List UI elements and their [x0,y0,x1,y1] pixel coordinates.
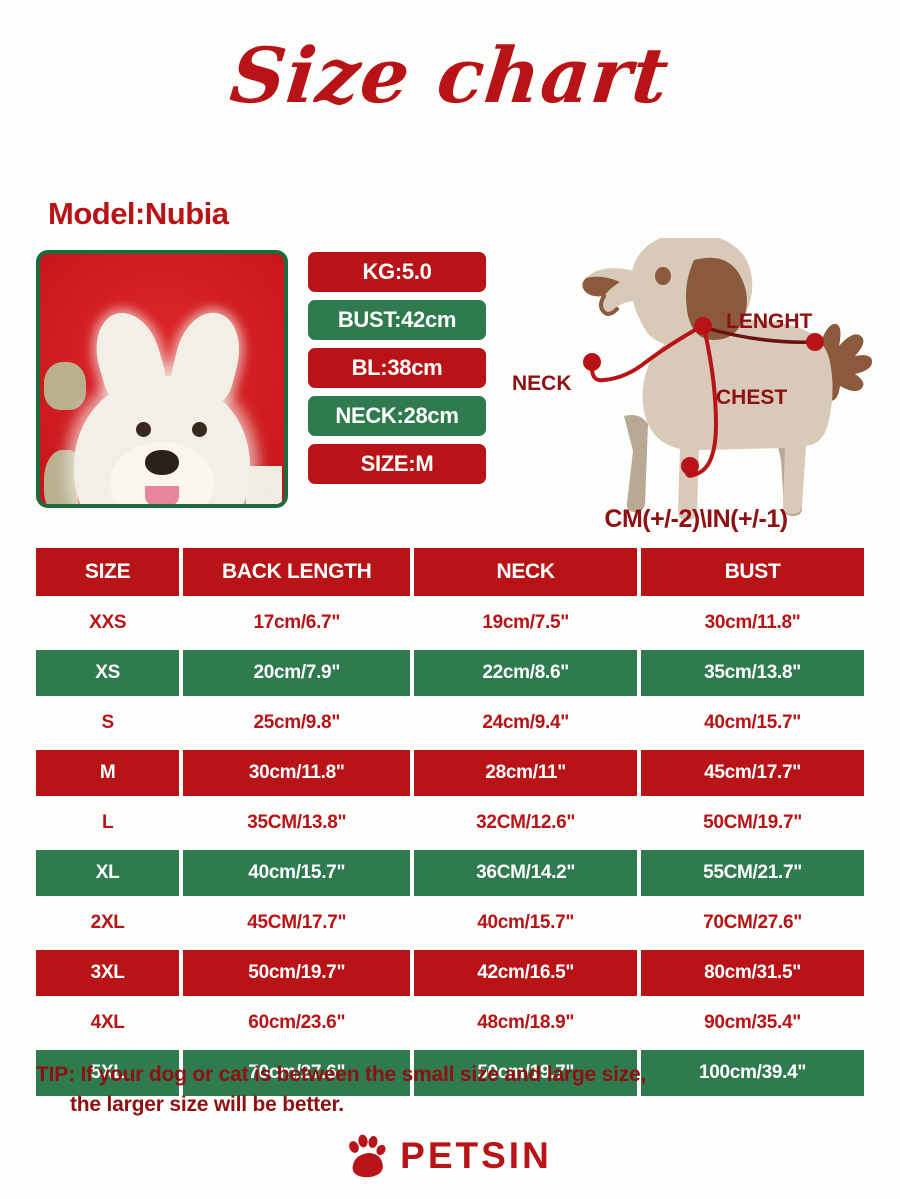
length-measure-dot-start [694,317,712,335]
neck-measure-dot [583,353,601,371]
dog-front-leg-far [624,415,648,512]
brand-footer: PETSIN [0,1134,900,1178]
cell-back-length: 60cm/23.6" [183,1000,410,1046]
cell-back-length: 17cm/6.7" [183,600,410,646]
chest-measure-dot [681,457,699,475]
cell-back-length: 45CM/17.7" [183,900,410,946]
table-row: 3XL 50cm/19.7" 42cm/16.5" 80cm/31.5" [36,950,864,996]
title-bar: Size chart [0,0,900,114]
cell-bust: 80cm/31.5" [641,950,864,996]
cell-bust: 90cm/35.4" [641,1000,864,1046]
dog-photo-tongue [145,486,179,508]
cell-bust: 50CM/19.7" [641,800,864,846]
cell-back-length: 50cm/19.7" [183,950,410,996]
cell-bust: 30cm/11.8" [641,600,864,646]
cell-back-length: 30cm/11.8" [183,750,410,796]
dog-body [642,320,832,520]
dog-photo-eye-right [192,422,207,437]
table-header-row: SIZE BACK LENGTH NECK BUST [36,548,864,596]
length-measure-dot-end [806,333,824,351]
cell-back-length: 35CM/13.8" [183,800,410,846]
badge-bust: BUST:42cm [308,300,486,340]
model-photo-inner [40,254,284,504]
dog-measurement-diagram: LENGHT NECK CHEST [498,238,894,538]
badge-size: SIZE:M [308,444,486,484]
cell-bust: 35cm/13.8" [641,650,864,696]
brand-name: PETSIN [400,1135,552,1177]
size-table: SIZE BACK LENGTH NECK BUST XXS 17cm/6.7"… [36,548,864,1100]
table-row: 2XL 45CM/17.7" 40cm/15.7" 70CM/27.6" [36,900,864,946]
diagram-label-neck: NECK [512,372,572,395]
cell-size: XXS [36,600,179,646]
cell-neck: 28cm/11" [414,750,637,796]
table-row: XL 40cm/15.7" 36CM/14.2" 55CM/21.7" [36,850,864,896]
cell-size: 2XL [36,900,179,946]
cell-neck: 40cm/15.7" [414,900,637,946]
cell-back-length: 40cm/15.7" [183,850,410,896]
table-row: XXS 17cm/6.7" 19cm/7.5" 30cm/11.8" [36,600,864,646]
page-title: Size chart [227,38,673,114]
cell-size: 4XL [36,1000,179,1046]
table-row: XS 20cm/7.9" 22cm/8.6" 35cm/13.8" [36,650,864,696]
cell-neck: 22cm/8.6" [414,650,637,696]
cell-size: L [36,800,179,846]
column-header-size: SIZE [36,548,179,596]
cell-bust: 70CM/27.6" [641,900,864,946]
column-header-bust: BUST [641,548,864,596]
cell-neck: 24cm/9.4" [414,700,637,746]
cell-size: M [36,750,179,796]
table-row: M 30cm/11.8" 28cm/11" 45cm/17.7" [36,750,864,796]
cell-neck: 36CM/14.2" [414,850,637,896]
paw-icon [348,1134,388,1178]
column-header-back-length: BACK LENGTH [183,548,410,596]
badge-kg: KG:5.0 [308,252,486,292]
cell-back-length: 25cm/9.8" [183,700,410,746]
table-row: L 35CM/13.8" 32CM/12.6" 50CM/19.7" [36,800,864,846]
cell-size: XL [36,850,179,896]
tip-line-2: the larger size will be better. [36,1090,816,1120]
diagram-label-chest: CHEST [716,386,787,409]
cell-neck: 48cm/18.9" [414,1000,637,1046]
badge-neck: NECK:28cm [308,396,486,436]
pinecone-decor-icon [44,362,86,410]
table-row: 4XL 60cm/23.6" 48cm/18.9" 90cm/35.4" [36,1000,864,1046]
dog-eye-icon [655,267,671,285]
model-label: Model:Nubia [48,196,229,232]
cell-size: S [36,700,179,746]
cell-neck: 32CM/12.6" [414,800,637,846]
cell-neck: 19cm/7.5" [414,600,637,646]
tip-line-1: TIP: If your dog or cat is between the s… [36,1063,646,1086]
cell-neck: 42cm/16.5" [414,950,637,996]
cell-bust: 45cm/17.7" [641,750,864,796]
cell-size: 3XL [36,950,179,996]
cell-back-length: 20cm/7.9" [183,650,410,696]
table-row: S 25cm/9.8" 24cm/9.4" 40cm/15.7" [36,700,864,746]
cell-bust: 40cm/15.7" [641,700,864,746]
dog-photo-eye-left [136,422,151,437]
cell-bust: 55CM/21.7" [641,850,864,896]
tolerance-note: CM(+/-2)\IN(+/-1) [498,505,894,534]
model-photo [36,250,288,508]
diagram-label-length: LENGHT [726,310,813,333]
tip-text: TIP: If your dog or cat is between the s… [36,1060,816,1121]
dog-photo-nose [145,450,179,475]
cell-size: XS [36,650,179,696]
badge-bl: BL:38cm [308,348,486,388]
column-header-neck: NECK [414,548,637,596]
model-measurement-badges: KG:5.0 BUST:42cm BL:38cm NECK:28cm SIZE:… [308,252,486,492]
